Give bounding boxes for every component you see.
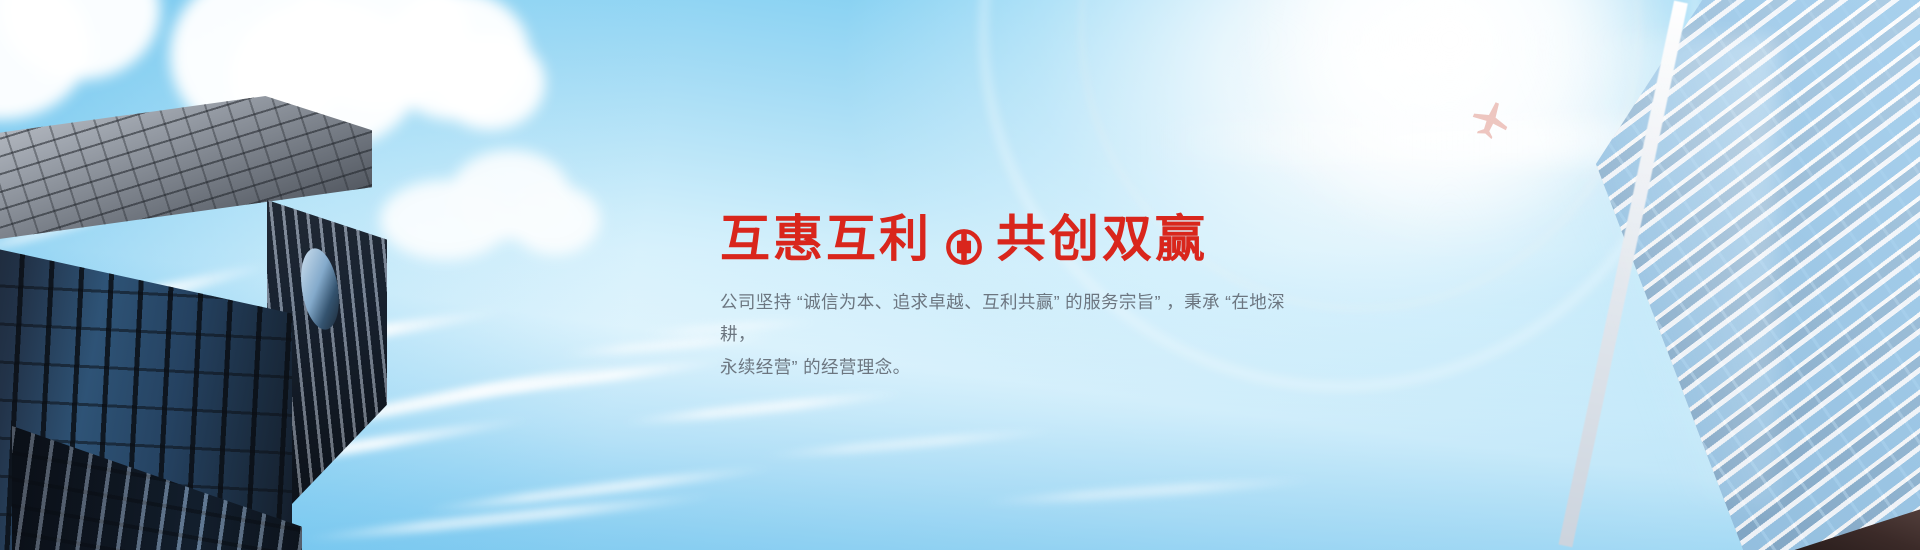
headline-right-text: 共创双赢: [996, 212, 1208, 266]
banner-subtitle: 公司坚持 “诚信为本、追求卓越、互利共赢” 的服务宗旨” ，秉承 “在地深耕， …: [720, 286, 1320, 383]
left-building: [0, 96, 382, 550]
boc-circle-emblem-icon: [945, 222, 983, 260]
banner-subtitle-line-2: 永续经营” 的经营理念。: [720, 351, 1320, 383]
banner-headline: 互惠互利 共创双赢: [720, 212, 1360, 266]
hero-banner: 互惠互利 共创双赢 公司坚持 “诚信为本、追求卓越、互利共赢” 的服务宗旨” ，…: [0, 0, 1920, 550]
banner-subtitle-line-1: 公司坚持 “诚信为本、追求卓越、互利共赢” 的服务宗旨” ，秉承 “在地深耕，: [720, 286, 1320, 351]
banner-copy: 互惠互利 共创双赢 公司坚持 “诚信为本、追求卓越、互利共赢” 的服务宗旨” ，…: [720, 212, 1360, 383]
right-building: [1596, 0, 1920, 550]
airplane-icon: [1467, 100, 1513, 140]
right-building-light-halo: [1516, 36, 1776, 506]
cumulus-cloud-secondary: [380, 150, 590, 270]
headline-left-text: 互惠互利: [720, 212, 932, 266]
